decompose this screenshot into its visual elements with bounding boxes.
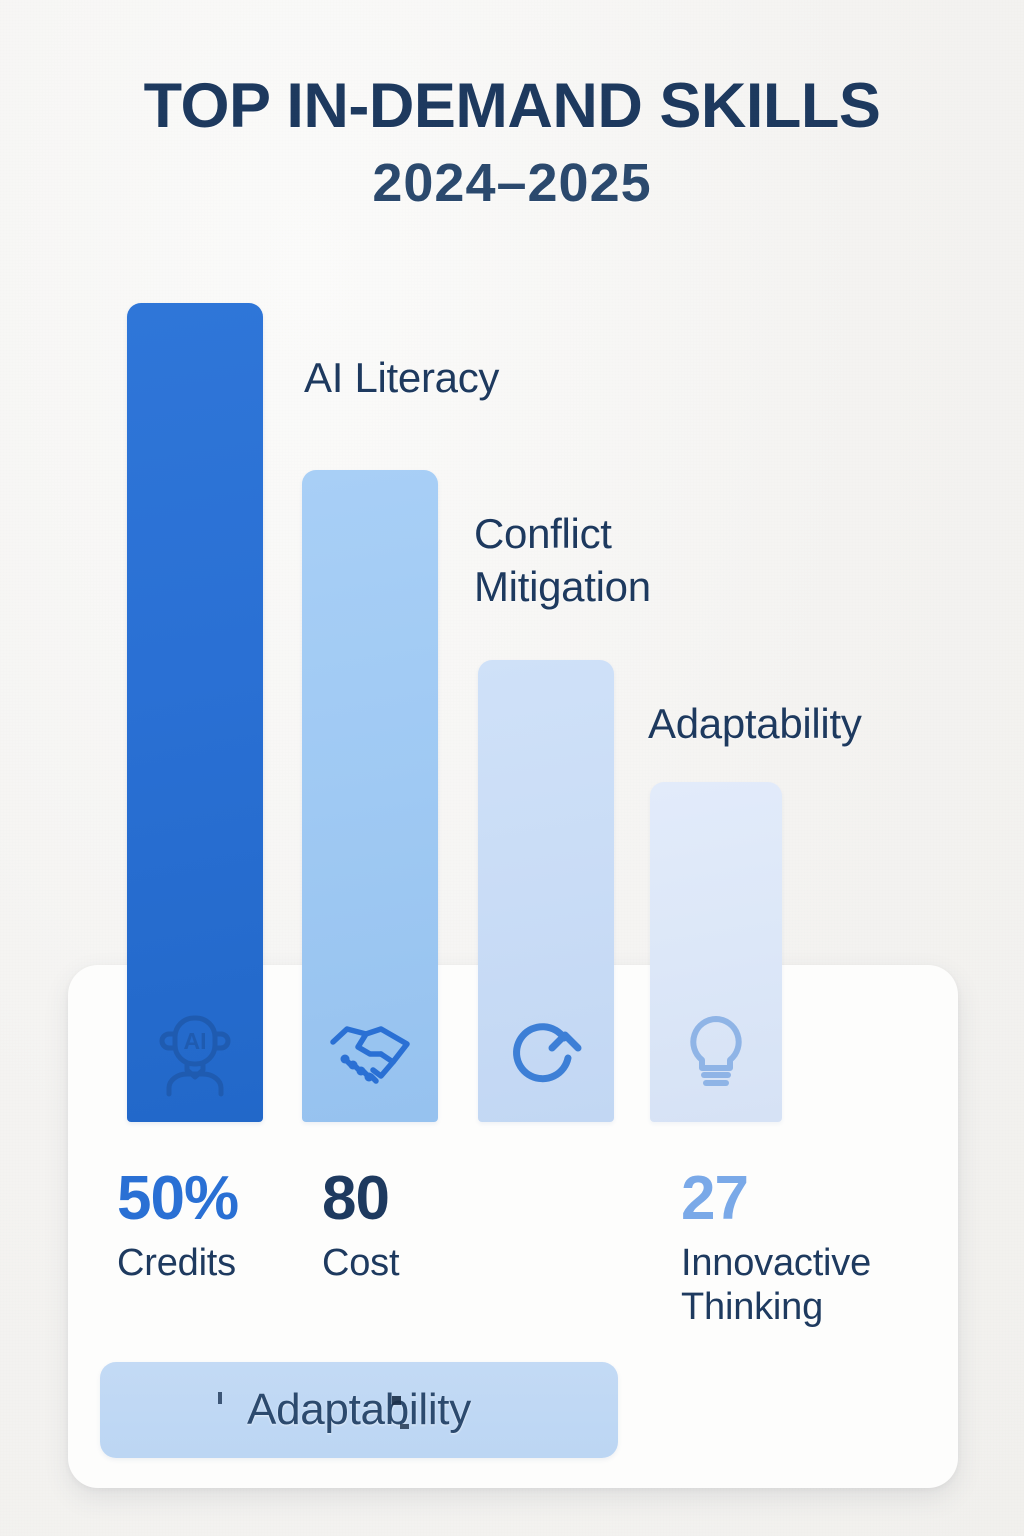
ai-head-icon: AI [147, 1004, 243, 1100]
refresh-arrow-icon [498, 1004, 594, 1100]
stat-innovactive-thinking-value: 27 [681, 1168, 911, 1230]
bar-label-conflict-mitigation: Conflict Mitigation [474, 508, 651, 613]
stat-label-line-2: Thinking [681, 1286, 823, 1328]
title-block: TOP IN-DEMAND SKILLS 2024–2025 [0, 74, 1024, 214]
stat-credits: 50% Credits [117, 1168, 238, 1286]
stat-cost-value: 80 [322, 1168, 399, 1230]
bar-conflict-mitigation[interactable] [302, 470, 438, 1122]
stat-cost: 80 Cost [322, 1168, 399, 1286]
adaptability-button-label: Adaptability [247, 1385, 471, 1435]
lightbulb-icon [668, 1004, 764, 1100]
bar-label-line-1: Conflict [474, 508, 651, 561]
stat-innovactive-thinking-label: Innovactive Thinking [681, 1242, 911, 1329]
page-title: TOP IN-DEMAND SKILLS [0, 74, 1024, 138]
adaptability-button[interactable]: Adaptability [100, 1362, 618, 1458]
bar-innovative-thinking[interactable] [650, 782, 782, 1122]
bar-ai-literacy[interactable]: AI [127, 303, 263, 1122]
infographic-canvas: TOP IN-DEMAND SKILLS 2024–2025 AI [0, 0, 1024, 1536]
bar-label-line-2: Mitigation [474, 561, 651, 614]
pill-artifact-3 [400, 1424, 409, 1429]
stat-innovactive-thinking: 27 Innovactive Thinking [681, 1168, 911, 1329]
pill-artifact-1 [218, 1392, 222, 1404]
handshake-icon [322, 1004, 418, 1100]
bar-adaptability[interactable] [478, 660, 614, 1122]
stat-credits-label: Credits [117, 1242, 238, 1286]
svg-text:AI: AI [184, 1028, 207, 1054]
pill-artifact-2 [392, 1396, 401, 1405]
stat-cost-label: Cost [322, 1242, 399, 1286]
bar-label-adaptability: Adaptability [648, 698, 862, 751]
bar-label-ai-literacy: AI Literacy [304, 352, 499, 405]
stat-label-line-1: Innovactive [681, 1242, 871, 1284]
page-subtitle: 2024–2025 [0, 152, 1024, 214]
stat-credits-value: 50% [117, 1168, 238, 1230]
